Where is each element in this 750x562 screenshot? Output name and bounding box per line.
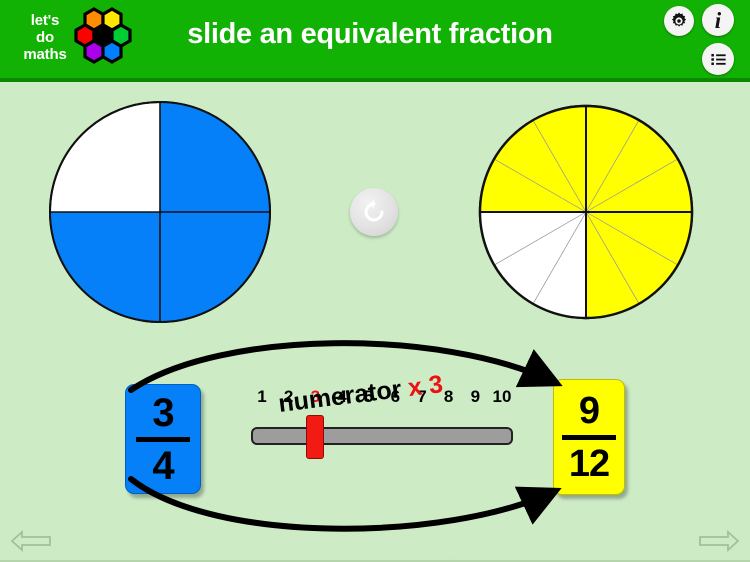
prev-page-button[interactable] [8, 526, 54, 556]
slider-thumb[interactable] [306, 415, 324, 459]
logo-line-1: let's [14, 12, 76, 29]
right-denominator: 12 [569, 444, 609, 484]
logo-line-2: do [14, 29, 76, 46]
logo-line-3: maths [14, 46, 76, 63]
info-icon: i [715, 9, 721, 32]
left-denominator: 4 [152, 446, 173, 486]
left-fraction-bar [136, 437, 189, 442]
right-fraction-bar [562, 435, 617, 440]
reset-icon [360, 198, 388, 226]
fraction-circle-left[interactable] [48, 100, 272, 324]
slider-tick-9[interactable]: 9 [462, 387, 488, 407]
logo-text: let's do maths [14, 12, 76, 63]
back-arrow-icon [12, 532, 50, 550]
next-page-button[interactable] [696, 526, 742, 556]
left-numerator: 3 [152, 393, 173, 433]
fraction-card-left[interactable]: 3 4 [125, 384, 201, 494]
app-root: let's do maths slide an equivalent fract… [0, 0, 750, 562]
app-header: let's do maths slide an equivalent fract… [0, 0, 750, 78]
slider-tick-1[interactable]: 1 [249, 387, 275, 407]
slider-track[interactable] [251, 427, 513, 445]
slider-tick-10[interactable]: 10 [489, 387, 515, 407]
numerator-multiplier-text: x 3 [406, 370, 444, 402]
settings-button[interactable] [664, 6, 694, 36]
list-menu-icon [709, 50, 728, 69]
right-numerator: 9 [579, 391, 599, 431]
activity-stage: 3 4 9 12 12345678910 numerator x 3 denom… [0, 82, 750, 562]
forward-arrow-icon [700, 532, 738, 550]
page-title: slide an equivalent fraction [150, 18, 590, 51]
app-logo: let's do maths [10, 4, 138, 74]
info-button[interactable]: i [702, 4, 734, 36]
fraction-card-right[interactable]: 9 12 [553, 379, 625, 495]
fraction-circle-right[interactable] [478, 104, 694, 320]
menu-button[interactable] [702, 43, 734, 75]
reset-button[interactable] [350, 188, 398, 236]
hex-flower-icon [70, 6, 136, 72]
gear-icon [669, 11, 689, 31]
